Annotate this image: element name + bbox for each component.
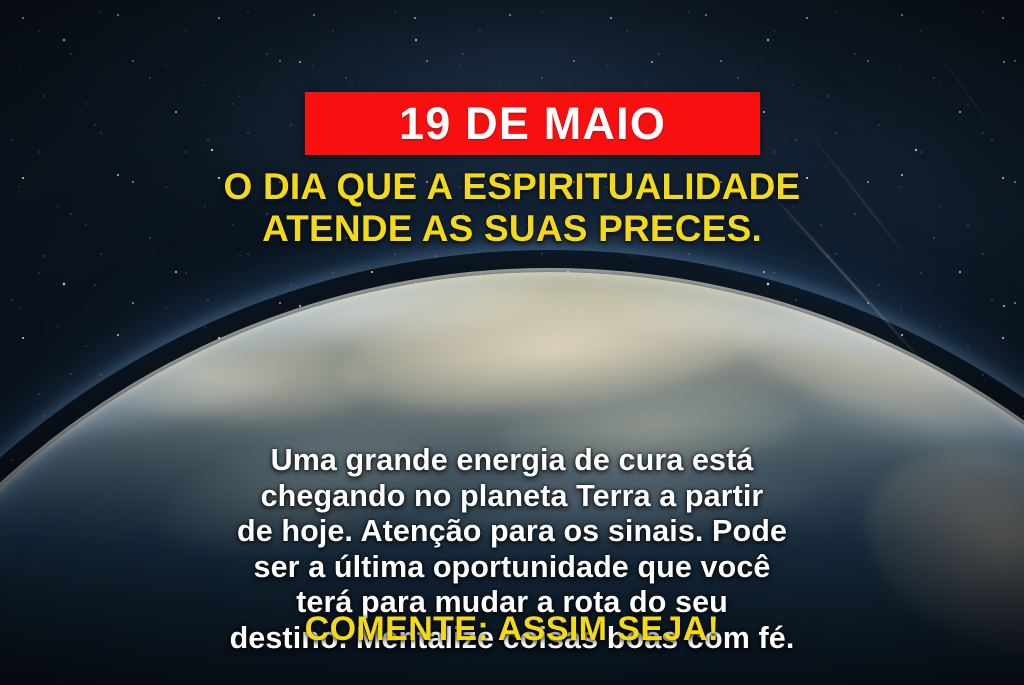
headline-line-2: ATENDE AS SUAS PRECES.: [52, 208, 972, 250]
body-line: de hoje. Atenção para os sinais. Pode: [56, 514, 968, 550]
body-line: chegando no planeta Terra a partir: [56, 479, 968, 515]
date-banner-text: 19 DE MAIO: [399, 101, 666, 146]
poster-content: 19 DE MAIO O DIA QUE A ESPIRITUALIDADE A…: [0, 0, 1024, 685]
poster-canvas: 19 DE MAIO O DIA QUE A ESPIRITUALIDADE A…: [0, 0, 1024, 685]
headline: O DIA QUE A ESPIRITUALIDADE ATENDE AS SU…: [0, 166, 1024, 250]
headline-line-1: O DIA QUE A ESPIRITUALIDADE: [52, 166, 972, 208]
body-line: ser a última oportunidade que você: [56, 550, 968, 586]
date-banner: 19 DE MAIO: [305, 92, 760, 155]
body-line: Uma grande energia de cura está: [56, 443, 968, 479]
call-to-action-text: COMENTE: ASSIM SEJA!: [0, 612, 1024, 646]
